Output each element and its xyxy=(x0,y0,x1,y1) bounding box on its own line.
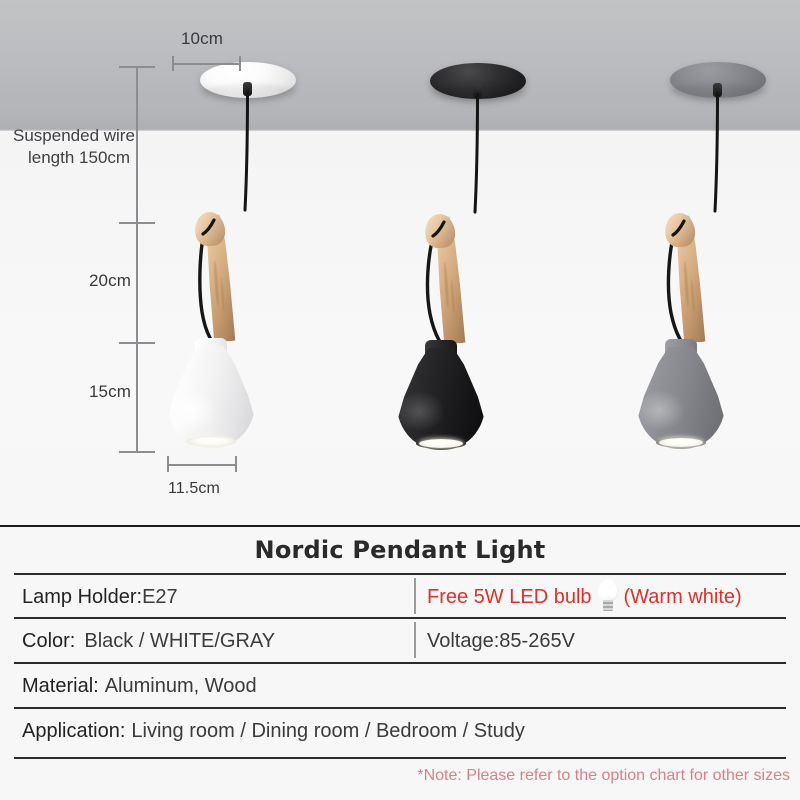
cord-grip-white xyxy=(243,82,252,96)
led-bulb-icon xyxy=(592,580,624,614)
light-aperture xyxy=(189,437,233,446)
lamp-shade-white xyxy=(167,338,255,448)
spec-row-3: Material: Aluminum, Wood xyxy=(22,669,257,703)
row-divider-3 xyxy=(14,662,786,664)
spec-row-2-right: Voltage:85-265V xyxy=(427,624,575,658)
dim-15cm-line xyxy=(136,343,138,453)
dim-115cm-tick-left xyxy=(167,456,169,472)
shade-body xyxy=(397,348,485,450)
gray-pendant-lamp xyxy=(560,0,800,518)
light-aperture xyxy=(419,439,463,448)
light-aperture xyxy=(659,438,703,447)
dim-wire-line xyxy=(136,66,138,223)
row-divider-1 xyxy=(14,573,786,575)
material-label: Material: xyxy=(22,675,99,698)
dim-10cm-line xyxy=(172,63,240,65)
bulb-base xyxy=(603,600,613,611)
dim-15cm-label: 15cm xyxy=(89,382,131,402)
dim-115cm-label: 11.5cm xyxy=(168,480,220,498)
dim-wire-label-line2: length 150cm xyxy=(28,147,130,170)
warm-white-label: (Warm white) xyxy=(624,586,742,609)
dim-20cm-line xyxy=(136,223,138,343)
black-pendant-lamp xyxy=(320,0,580,518)
color-value: Black / WHITE/GRAY xyxy=(84,630,275,653)
application-label: Application: xyxy=(22,720,125,743)
product-spec-sheet: 10cm Suspended wire length 150cm 20cm 15… xyxy=(0,0,800,800)
dim-15cm-tick-bottom xyxy=(119,451,155,453)
dim-10cm-label: 10cm xyxy=(181,29,223,49)
lamp-shade-black xyxy=(397,340,485,450)
lamp-holder-label: Lamp Holder: xyxy=(22,586,142,609)
dim-wire-tick-top xyxy=(119,66,155,68)
product-photo-scene: 10cm Suspended wire length 150cm 20cm 15… xyxy=(0,0,800,518)
option-chart-note: *Note: Please refer to the option chart … xyxy=(417,767,790,785)
bulb-lobe-left xyxy=(599,584,607,598)
product-title: Nordic Pendant Light xyxy=(0,536,800,564)
spec-row-1-left: Lamp Holder: E27 xyxy=(22,580,178,614)
spec-row-1-right: Free 5W LED bulb (Warm white) xyxy=(427,580,742,614)
row-divider-5 xyxy=(14,757,786,759)
shade-body xyxy=(637,347,725,449)
dim-10cm-tick-left xyxy=(172,56,174,71)
shade-body xyxy=(167,346,255,448)
lamp-shade-gray xyxy=(637,339,725,449)
dim-wire-label-line1: Suspended wire xyxy=(13,125,135,148)
color-label: Color: xyxy=(22,630,75,653)
voltage-value: Voltage:85-265V xyxy=(427,630,575,653)
white-pendant-lamp xyxy=(90,0,350,518)
dim-10cm-tick-right xyxy=(239,56,241,71)
bulb-lobe-right xyxy=(609,584,617,598)
spec-row-2-left: Color: Black / WHITE/GRAY xyxy=(22,624,275,658)
lamp-holder-value: E27 xyxy=(142,586,178,609)
application-value: Living room / Dining room / Bedroom / St… xyxy=(131,720,525,743)
column-divider-row1 xyxy=(414,578,416,614)
spec-top-border xyxy=(0,525,800,527)
cord-grip-gray xyxy=(713,83,722,97)
dim-115cm-line xyxy=(167,464,236,466)
row-divider-4 xyxy=(14,707,786,709)
material-value: Aluminum, Wood xyxy=(105,675,257,698)
column-divider-row2 xyxy=(414,622,416,658)
spec-row-4: Application: Living room / Dining room /… xyxy=(22,714,525,748)
dim-115cm-tick-right xyxy=(235,456,237,472)
free-bulb-label: Free 5W LED bulb xyxy=(427,586,592,609)
specification-table: Nordic Pendant Light Lamp Holder: E27 Fr… xyxy=(0,518,800,800)
cord-grip-black xyxy=(473,84,482,98)
dim-20cm-label: 20cm xyxy=(89,271,131,291)
row-divider-2 xyxy=(14,617,786,619)
